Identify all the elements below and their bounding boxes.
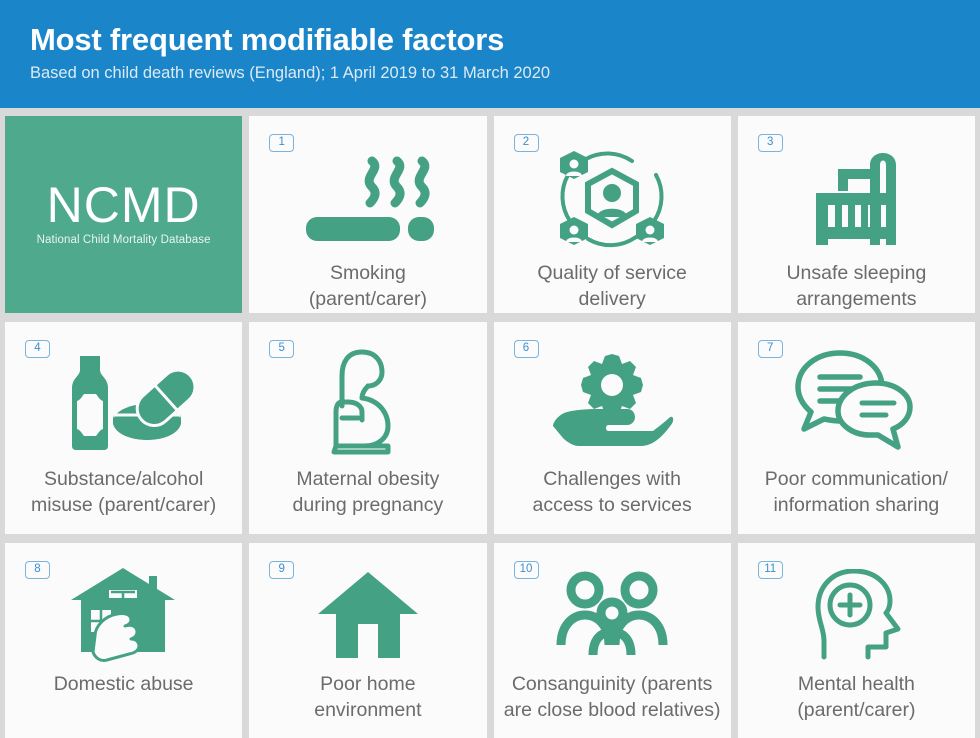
rank-badge: 8 <box>25 561 50 579</box>
factor-tile-unsafe-sleeping[interactable]: 3 <box>738 116 975 313</box>
ncmd-logo-mark: NCMD <box>37 178 211 232</box>
pregnant-woman-icon <box>318 344 418 460</box>
rank-badge: 4 <box>25 340 50 358</box>
bottle-pills-icon <box>54 344 194 460</box>
factor-tile-smoking[interactable]: 1 Smoking (parent/carer) <box>249 116 486 313</box>
family-group-icon <box>551 565 673 665</box>
factor-tile-domestic-abuse[interactable]: 8 Domestic abuse <box>5 543 242 738</box>
rank-badge: 10 <box>514 561 539 579</box>
factor-label: Maternal obesity during pregnancy <box>283 466 454 518</box>
cot-crib-icon <box>808 142 904 254</box>
factor-label: Consanguinity (parents are close blood r… <box>494 671 731 723</box>
infographic-page: Most frequent modifiable factors Based o… <box>0 0 980 735</box>
page-title: Most frequent modifiable factors <box>30 22 980 58</box>
rank-badge: 1 <box>269 134 294 152</box>
page-subtitle: Based on child death reviews (England); … <box>30 62 980 84</box>
rank-badge: 7 <box>758 340 783 358</box>
logo-wrap: NCMD National Child Mortality Database <box>37 178 211 247</box>
rank-badge: 11 <box>758 561 783 579</box>
factor-label: Challenges with access to services <box>522 466 701 518</box>
header-banner: Most frequent modifiable factors Based o… <box>0 0 980 108</box>
factor-label: Domestic abuse <box>44 671 204 697</box>
factor-tile-consanguinity[interactable]: 10 Consanguinity (parents are close bloo… <box>494 543 731 738</box>
factor-label: Unsafe sleeping arrangements <box>776 260 936 312</box>
rank-badge: 6 <box>514 340 539 358</box>
house-fist-icon <box>71 565 177 665</box>
rank-badge: 3 <box>758 134 783 152</box>
factor-label: Poor communication/ information sharing <box>755 466 958 518</box>
ncmd-logo-tile: NCMD National Child Mortality Database <box>5 116 242 313</box>
head-plus-icon <box>806 565 906 665</box>
factor-tile-mental-health[interactable]: 11 Mental health (parent/carer) <box>738 543 975 738</box>
factor-tile-maternal-obesity[interactable]: 5 <box>249 322 486 534</box>
factor-label: Smoking (parent/carer) <box>299 260 437 312</box>
factor-tile-poor-communication[interactable]: 7 Poor co <box>738 322 975 534</box>
factor-tile-access-to-services[interactable]: 6 Challenges with access to services <box>494 322 731 534</box>
factor-label: Substance/alcohol misuse (parent/carer) <box>21 466 226 518</box>
factor-tile-substance-misuse[interactable]: 4 Substance/alc <box>5 322 242 534</box>
ncmd-logo-name: National Child Mortality Database <box>37 233 211 247</box>
factors-grid: NCMD National Child Mortality Database 1… <box>5 116 975 730</box>
rank-badge: 9 <box>269 561 294 579</box>
rank-badge: 5 <box>269 340 294 358</box>
hand-gear-icon <box>549 344 675 460</box>
factor-label: Poor home environment <box>304 671 431 723</box>
rank-badge: 2 <box>514 134 539 152</box>
factor-label: Quality of service delivery <box>527 260 697 312</box>
factor-label: Mental health (parent/carer) <box>787 671 925 723</box>
house-icon <box>316 565 420 665</box>
speech-bubbles-icon <box>794 344 918 460</box>
factor-tile-quality-of-service-delivery[interactable]: 2 <box>494 116 731 313</box>
service-network-person-icon <box>556 142 668 254</box>
cigarette-smoke-icon <box>298 142 438 254</box>
factor-tile-poor-home-environment[interactable]: 9 Poor home environment <box>249 543 486 738</box>
